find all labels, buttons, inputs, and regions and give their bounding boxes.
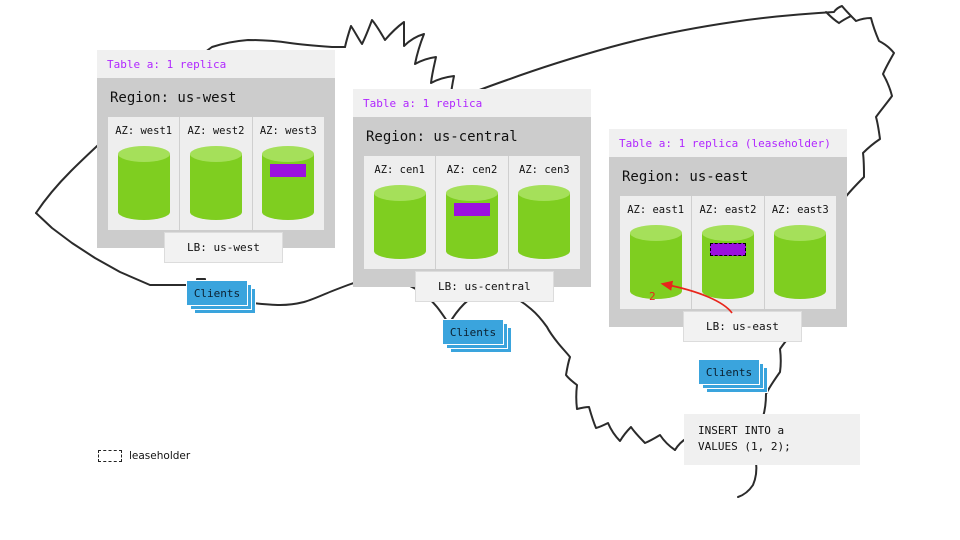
clients-card-front[interactable]: Clients <box>698 359 760 385</box>
node-cylinder-west3[interactable] <box>262 146 314 220</box>
node-cylinder-east1[interactable] <box>630 225 682 299</box>
region-panel-us-central: Table a: 1 replica Region: us-central AZ… <box>353 89 591 287</box>
az-cell-cen3[interactable]: AZ: cen3 <box>509 156 580 269</box>
node-cylinder-cen3[interactable] <box>518 185 570 259</box>
cylinder-body-icon <box>774 233 826 291</box>
cylinder-top-icon <box>446 185 498 201</box>
panel-title-us-central: Table a: 1 replica <box>353 89 591 117</box>
cylinder-body-icon <box>374 193 426 251</box>
az-cell-west1[interactable]: AZ: west1 <box>108 117 180 230</box>
leaseholder-badge-east2 <box>710 243 746 256</box>
region-label-us-east: Region: us-east <box>622 169 836 185</box>
panel-body-us-central: Region: us-central AZ: cen1 AZ: cen2 <box>353 117 591 287</box>
cylinder-body-icon <box>702 233 754 291</box>
node-cylinder-cen2[interactable] <box>446 185 498 259</box>
cylinder-top-icon <box>190 146 242 162</box>
panel-body-us-east: Region: us-east AZ: east1 AZ: east2 <box>609 157 847 327</box>
cylinder-top-icon <box>774 225 826 241</box>
region-panel-us-west: Table a: 1 replica Region: us-west AZ: w… <box>97 50 335 248</box>
cylinder-body-icon <box>518 193 570 251</box>
cylinder-top-icon <box>374 185 426 201</box>
cylinder-body-icon <box>446 193 498 251</box>
sql-statement-box: INSERT INTO a VALUES (1, 2); <box>684 414 860 465</box>
az-label-east1: AZ: east1 <box>627 204 684 216</box>
region-label-us-west: Region: us-west <box>110 90 324 106</box>
az-cell-east2[interactable]: AZ: east2 <box>692 196 764 309</box>
az-label-east2: AZ: east2 <box>700 204 757 216</box>
lb-box-us-west[interactable]: LB: us-west <box>164 232 283 263</box>
cylinder-body-icon <box>630 233 682 291</box>
panel-title-us-east: Table a: 1 replica (leaseholder) <box>609 129 847 157</box>
cylinder-body-icon <box>190 154 242 212</box>
az-row-us-west: AZ: west1 AZ: west2 AZ: west3 <box>108 117 324 230</box>
az-label-cen2: AZ: cen2 <box>447 164 498 176</box>
dashed-rect-icon <box>98 450 122 462</box>
clients-button-us-east[interactable]: Clients <box>698 359 760 385</box>
clients-button-us-west[interactable]: Clients <box>186 280 248 306</box>
cylinder-top-icon <box>518 185 570 201</box>
node-cylinder-east3[interactable] <box>774 225 826 299</box>
replica-badge-cen2 <box>454 203 490 216</box>
cylinder-body-icon <box>118 154 170 212</box>
az-cell-cen2[interactable]: AZ: cen2 <box>436 156 508 269</box>
region-label-us-central: Region: us-central <box>366 129 580 145</box>
az-cell-cen1[interactable]: AZ: cen1 <box>364 156 436 269</box>
legend: leaseholder <box>98 450 190 462</box>
lb-box-us-central[interactable]: LB: us-central <box>415 271 554 302</box>
az-cell-east3[interactable]: AZ: east3 <box>765 196 836 309</box>
clients-button-us-central[interactable]: Clients <box>442 319 504 345</box>
clients-card-front[interactable]: Clients <box>186 280 248 306</box>
az-cell-east1[interactable]: AZ: east1 <box>620 196 692 309</box>
replica-badge-west3 <box>270 164 306 177</box>
az-label-west2: AZ: west2 <box>188 125 245 137</box>
node-cylinder-cen1[interactable] <box>374 185 426 259</box>
cylinder-top-icon <box>630 225 682 241</box>
panel-body-us-west: Region: us-west AZ: west1 AZ: west2 <box>97 78 335 248</box>
az-label-west1: AZ: west1 <box>115 125 172 137</box>
az-cell-west3[interactable]: AZ: west3 <box>253 117 324 230</box>
clients-card-front[interactable]: Clients <box>442 319 504 345</box>
cylinder-body-icon <box>262 154 314 212</box>
az-label-east3: AZ: east3 <box>772 204 829 216</box>
az-label-west3: AZ: west3 <box>260 125 317 137</box>
node-cylinder-west2[interactable] <box>190 146 242 220</box>
lb-box-us-east[interactable]: LB: us-east <box>683 311 802 342</box>
az-row-us-central: AZ: cen1 AZ: cen2 AZ: cen3 <box>364 156 580 269</box>
panel-title-us-west: Table a: 1 replica <box>97 50 335 78</box>
node-cylinder-west1[interactable] <box>118 146 170 220</box>
cylinder-top-icon <box>118 146 170 162</box>
az-cell-west2[interactable]: AZ: west2 <box>180 117 252 230</box>
cylinder-top-icon <box>262 146 314 162</box>
region-panel-us-east: Table a: 1 replica (leaseholder) Region:… <box>609 129 847 327</box>
arrow-step-label: 2 <box>649 290 656 303</box>
az-label-cen3: AZ: cen3 <box>519 164 570 176</box>
legend-label: leaseholder <box>129 450 190 462</box>
cylinder-top-icon <box>702 225 754 241</box>
node-cylinder-east2[interactable] <box>702 225 754 299</box>
az-label-cen1: AZ: cen1 <box>374 164 425 176</box>
